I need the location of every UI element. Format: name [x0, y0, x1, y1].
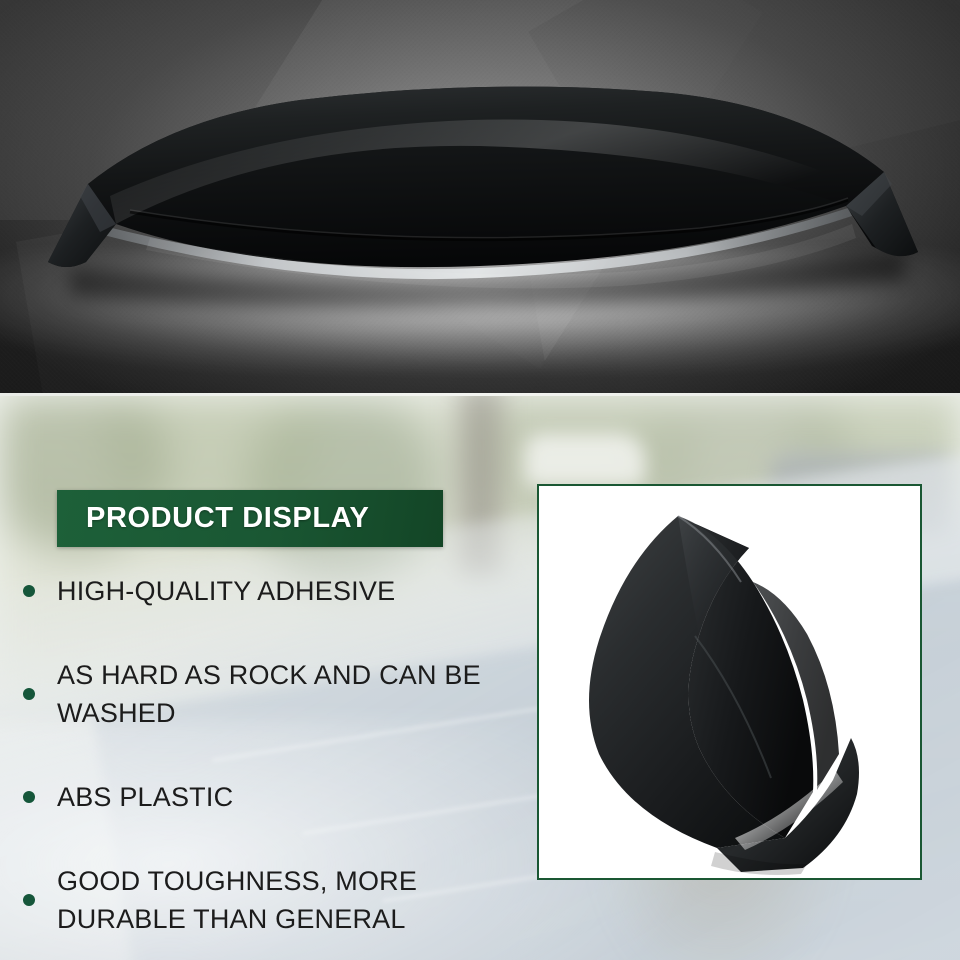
inset-spoiler-illustration [539, 486, 920, 878]
hero-spoiler-illustration [0, 0, 960, 396]
bullet-icon [23, 688, 35, 700]
product-display-section: PRODUCT DISPLAY HIGH-QUALITY ADHESIVE AS… [0, 396, 960, 960]
bullet-icon [23, 791, 35, 803]
feature-label: ABS PLASTIC [57, 778, 233, 816]
page-title: PRODUCT DISPLAY [86, 502, 369, 535]
list-item: ABS PLASTIC [0, 774, 520, 820]
product-display-page: PRODUCT DISPLAY HIGH-QUALITY ADHESIVE AS… [0, 0, 960, 960]
bullet-icon [23, 894, 35, 906]
feature-label: AS HARD AS ROCK AND CAN BE WASHED [57, 656, 509, 732]
product-inset-frame [537, 484, 922, 880]
bullet-icon [23, 585, 35, 597]
section-heading-banner: PRODUCT DISPLAY [57, 490, 443, 547]
list-item: HIGH-QUALITY ADHESIVE [0, 568, 520, 614]
feature-label: HIGH-QUALITY ADHESIVE [57, 572, 395, 610]
hero-product-image [0, 0, 960, 396]
feature-list: HIGH-QUALITY ADHESIVE AS HARD AS ROCK AN… [0, 568, 520, 938]
list-item: GOOD TOUGHNESS, MORE DURABLE THAN GENERA… [0, 862, 520, 938]
list-item: AS HARD AS ROCK AND CAN BE WASHED [0, 656, 520, 732]
feature-label: GOOD TOUGHNESS, MORE DURABLE THAN GENERA… [57, 862, 509, 938]
